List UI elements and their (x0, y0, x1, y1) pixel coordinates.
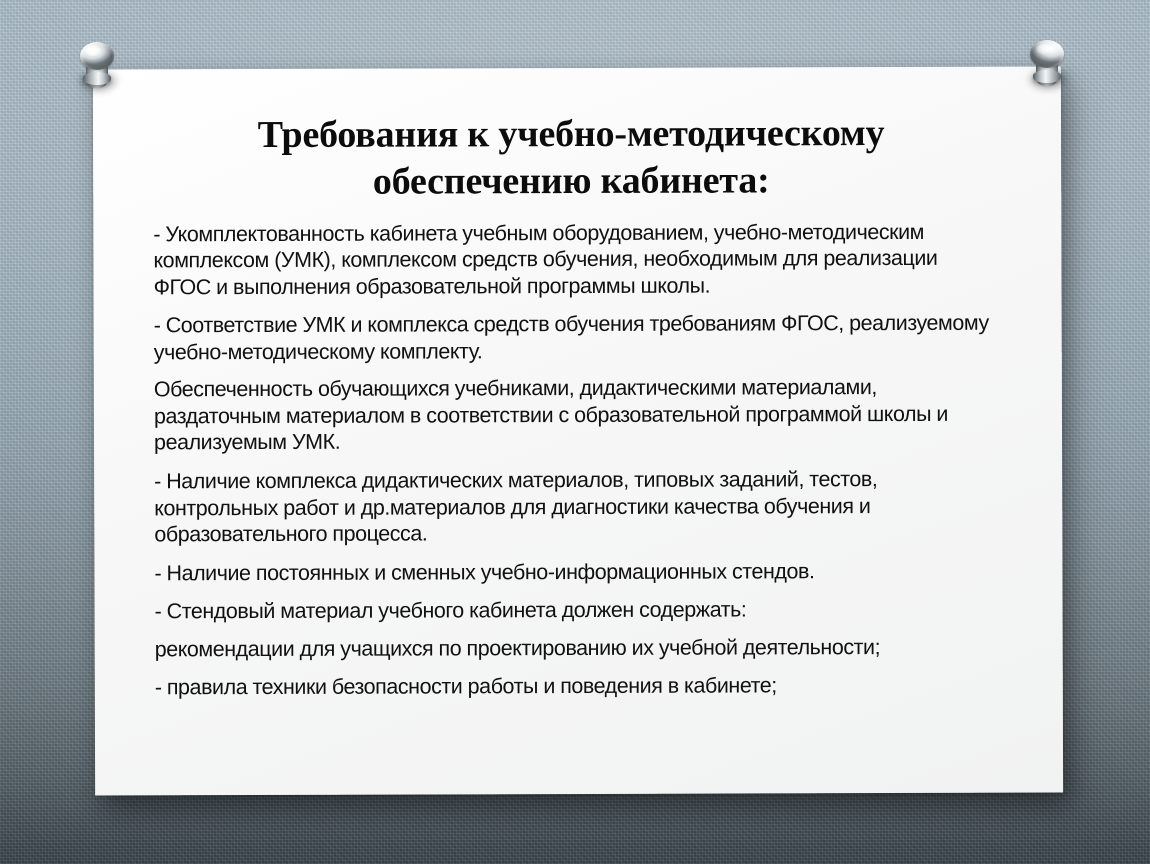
slide-stage: Требования к учебно-методическому обеспе… (0, 0, 1150, 864)
push-pin-right-highlight (1036, 44, 1052, 54)
push-pin-left-highlight (86, 46, 102, 56)
paragraph-8: - правила техники безопасности работы и … (155, 672, 997, 701)
page-title-line-2: обеспечению кабинета: (171, 158, 971, 205)
push-pin-right-head (1030, 40, 1064, 68)
paragraph-4: - Наличие комплекса дидактических матери… (154, 466, 996, 548)
page-title: Требования к учебно-методическому обеспе… (127, 111, 1005, 205)
body-text-block: - Укомплектованность кабинета учебным об… (127, 218, 1007, 701)
paragraph-6: - Стендовый материал учебного кабинета д… (155, 596, 997, 625)
page-title-line-1: Требования к учебно-методическому (171, 111, 971, 158)
paragraph-1: - Укомплектованность кабинета учебным об… (153, 218, 995, 300)
paragraph-2: - Соответствие УМК и комплекса средств о… (154, 310, 996, 366)
push-pin-left-head (80, 42, 114, 70)
paragraph-3: Обеспеченность обучающихся учебниками, д… (154, 374, 996, 456)
paragraph-7: рекомендации для учащихся по проектирова… (155, 633, 997, 662)
paragraph-5: - Наличие постоянных и сменных учебно-ин… (154, 557, 996, 586)
paper-sheet: Требования к учебно-методическому обеспе… (93, 66, 1063, 795)
paper-content: Требования к учебно-методическому обеспе… (93, 66, 1063, 795)
